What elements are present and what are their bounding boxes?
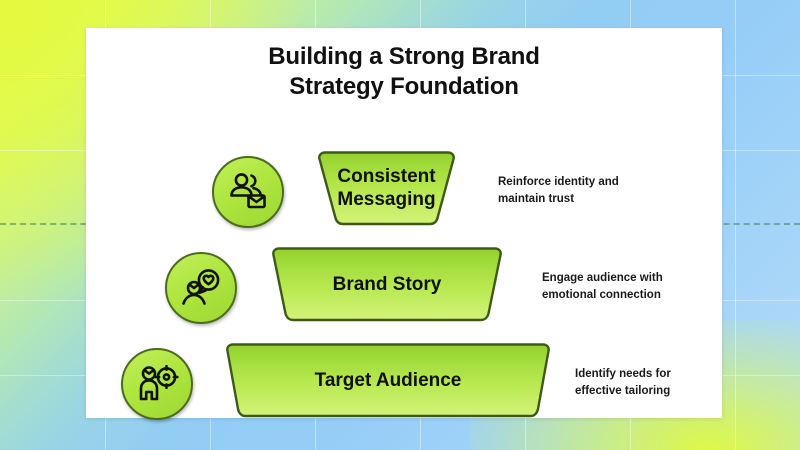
pyramid-tier-1-description: Reinforce identity and maintain trust xyxy=(498,174,688,207)
tier-1-desc-line-1: Reinforce identity and xyxy=(498,174,688,191)
slide-card: Building a Strong Brand Strategy Foundat… xyxy=(86,28,722,418)
person-target-icon xyxy=(121,348,193,420)
tier-2-desc-line-1: Engage audience with xyxy=(542,270,732,287)
page-title-line-1: Building a Strong Brand xyxy=(86,42,722,72)
pyramid-row-target-audience: Target Audience Identify needs for effec… xyxy=(86,340,722,426)
person-heart-speech-bubble-icon xyxy=(165,252,237,324)
tier-3-desc-line-1: Identify needs for xyxy=(575,366,765,383)
tier-3-desc-line-2: effective tailoring xyxy=(575,383,765,400)
page-title-line-2: Strategy Foundation xyxy=(86,72,722,102)
slide-background: Building a Strong Brand Strategy Foundat… xyxy=(0,0,800,450)
tier-2-desc-line-2: emotional connection xyxy=(542,287,732,304)
people-envelope-icon xyxy=(212,156,284,228)
pyramid-tier-3[interactable]: Target Audience xyxy=(207,342,569,420)
page-title: Building a Strong Brand Strategy Foundat… xyxy=(86,42,722,102)
pyramid-tier-2-description: Engage audience with emotional connectio… xyxy=(542,270,732,303)
pyramid-row-consistent-messaging: Consistent Messaging Reinforce identity … xyxy=(86,148,722,234)
pyramid-tier-1[interactable]: Consistent Messaging xyxy=(299,150,474,228)
tier-1-desc-line-2: maintain trust xyxy=(498,191,688,208)
pyramid-row-brand-story: Brand Story Engage audience with emotion… xyxy=(86,244,722,330)
pyramid-tier-3-description: Identify needs for effective tailoring xyxy=(575,366,765,399)
pyramid-tier-2[interactable]: Brand Story xyxy=(253,246,521,324)
